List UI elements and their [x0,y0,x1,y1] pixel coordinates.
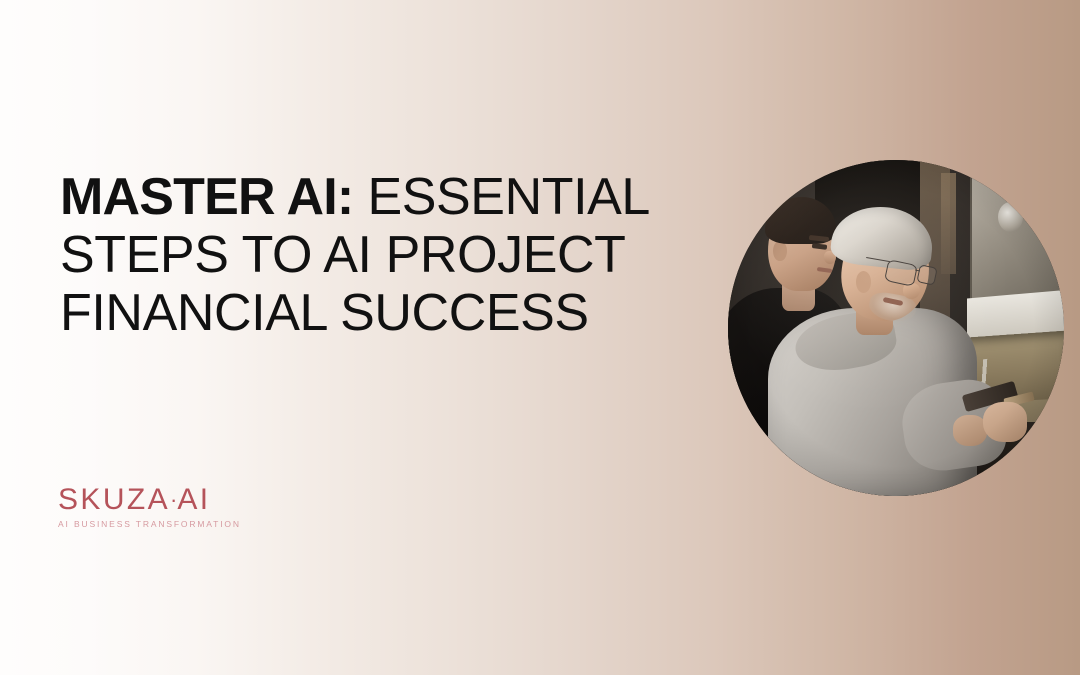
marketing-banner: MASTER AI: ESSENTIAL STEPS TO AI PROJECT… [0,0,1080,675]
brand-logo[interactable]: SKUZA·AI AI BUSINESS TRANSFORMATION [58,484,298,530]
logo-wordmark: SKUZA·AI [58,484,298,516]
logo-wordmark-right: AI [177,483,210,516]
logo-tagline: AI BUSINESS TRANSFORMATION [58,519,298,530]
photo-vignette [728,160,1064,496]
logo-wordmark-left: SKUZA [58,483,170,516]
hero-photo-circle [728,160,1064,496]
page-title: MASTER AI: ESSENTIAL STEPS TO AI PROJECT… [60,168,700,342]
hero-photo-illustration [728,160,1064,496]
headline-lead: MASTER AI: [60,168,353,226]
